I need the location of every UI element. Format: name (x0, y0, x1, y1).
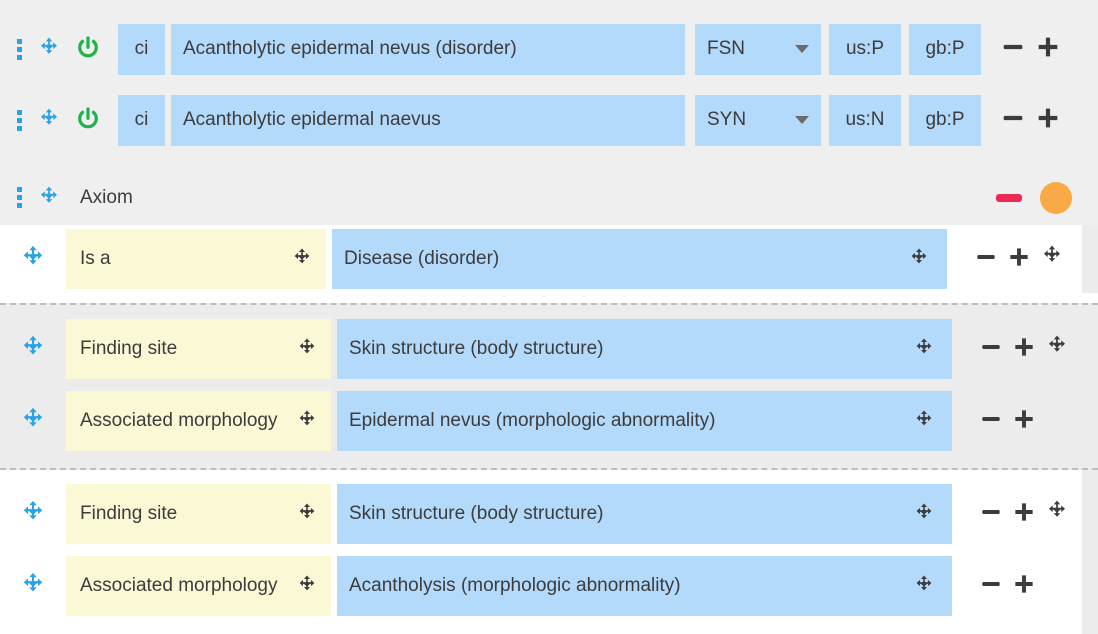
description-power-icon[interactable] (66, 105, 110, 135)
relationship-type-label: Finding site (80, 501, 295, 527)
relationship-value-box[interactable]: Epidermal nevus (morphologic abnormality… (337, 391, 952, 451)
relationship-move-icon[interactable] (0, 571, 66, 601)
add-relationship-icon[interactable] (1011, 571, 1037, 602)
relationship-row-controls (978, 499, 1070, 530)
relationship-move-icon[interactable] (0, 406, 66, 436)
description-menu-icon[interactable] (6, 39, 32, 60)
relationship-type-box[interactable]: Associated morphology (66, 556, 331, 616)
relationship-row-controls (973, 244, 1065, 275)
add-description-icon[interactable] (1034, 104, 1062, 137)
relationship-row: Finding site Skin structure (body struct… (0, 478, 1098, 550)
relationship-row: Associated morphology Acantholysis (morp… (0, 550, 1098, 622)
description-menu-icon[interactable] (6, 110, 32, 131)
gb-acceptability-box[interactable]: gb:P (909, 24, 981, 75)
add-relationship-icon[interactable] (1011, 499, 1037, 530)
us-acceptability-box[interactable]: us:N (829, 95, 901, 146)
gb-acceptability-box[interactable]: gb:P (909, 95, 981, 146)
description-move-icon[interactable] (32, 107, 66, 133)
relationship-type-move-icon[interactable] (295, 409, 319, 433)
descriptions-panel: ci Acantholytic epidermal nevus (disorde… (0, 0, 1098, 225)
relationship-row-controls (978, 406, 1037, 437)
description-term-field[interactable]: Acantholytic epidermal nevus (disorder) (171, 24, 685, 75)
remove-description-icon[interactable] (999, 104, 1027, 137)
description-type-value: SYN (707, 109, 746, 131)
relationship-type-move-icon[interactable] (290, 247, 314, 271)
relationship-row-controls (978, 334, 1070, 365)
relationship-value-move-icon[interactable] (912, 502, 936, 526)
relationship-value-box[interactable]: Skin structure (body structure) (337, 484, 952, 544)
relationship-type-move-icon[interactable] (295, 337, 319, 361)
remove-description-icon[interactable] (999, 33, 1027, 66)
relationship-value-label: Acantholysis (morphologic abnormality) (349, 575, 912, 597)
us-acceptability-box[interactable]: us:P (829, 24, 901, 75)
relationship-row: Is a Disease (disorder) (0, 225, 1098, 293)
us-acceptability-label: us:P (846, 38, 884, 60)
description-type-select[interactable]: SYN (695, 95, 821, 146)
relationship-move-icon[interactable] (0, 334, 66, 364)
relationship-value-label: Skin structure (body structure) (349, 338, 912, 360)
relationship-type-box[interactable]: Finding site (66, 319, 331, 379)
relationship-type-label: Associated morphology (80, 408, 295, 434)
axiom-header: Axiom (0, 170, 1098, 225)
relationship-value-box[interactable]: Skin structure (body structure) (337, 319, 952, 379)
relationship-value-label: Skin structure (body structure) (349, 503, 912, 525)
add-relationship-icon[interactable] (1011, 406, 1037, 437)
chevron-down-icon (795, 45, 809, 53)
case-significance-box[interactable]: ci (118, 24, 165, 75)
description-term-text: Acantholytic epidermal naevus (183, 109, 441, 131)
add-relationship-icon[interactable] (1006, 244, 1032, 275)
relationship-type-label: Is a (80, 246, 290, 272)
description-row-controls (999, 104, 1062, 137)
move-group-icon[interactable] (1039, 244, 1065, 275)
move-group-icon[interactable] (1044, 499, 1070, 530)
case-significance-box[interactable]: ci (118, 95, 165, 146)
relationship-group: Finding site Skin structure (body struct… (0, 303, 1098, 470)
description-term-field[interactable]: Acantholytic epidermal naevus (171, 95, 685, 146)
move-group-icon[interactable] (1044, 334, 1070, 365)
axiom-move-icon[interactable] (32, 185, 66, 211)
relationship-group: Is a Disease (disorder) (0, 225, 1098, 293)
remove-relationship-icon[interactable] (978, 334, 1004, 365)
axiom-controls (996, 182, 1098, 214)
remove-relationship-icon[interactable] (978, 406, 1004, 437)
relationship-type-box[interactable]: Is a (66, 229, 326, 289)
relationship-group: Finding site Skin structure (body struct… (0, 470, 1098, 634)
us-acceptability-label: us:N (845, 109, 884, 131)
remove-relationship-icon[interactable] (978, 571, 1004, 602)
description-type-select[interactable]: FSN (695, 24, 821, 75)
relationship-value-label: Disease (disorder) (344, 248, 907, 270)
add-relationship-icon[interactable] (1011, 334, 1037, 365)
relationship-type-label: Associated morphology (80, 573, 295, 599)
case-significance-label: ci (135, 109, 149, 131)
description-row: ci Acantholytic epidermal nevus (disorde… (0, 17, 1098, 81)
remove-relationship-icon[interactable] (973, 244, 999, 275)
relationship-row: Associated morphology Epidermal nevus (m… (0, 385, 1098, 457)
remove-axiom-icon[interactable] (996, 194, 1022, 202)
chevron-down-icon (795, 116, 809, 124)
relationship-type-label: Finding site (80, 336, 295, 362)
relationship-move-icon[interactable] (0, 244, 66, 274)
relationship-value-box[interactable]: Disease (disorder) (332, 229, 947, 289)
relationship-value-move-icon[interactable] (912, 574, 936, 598)
description-row-controls (999, 33, 1062, 66)
description-type-value: FSN (707, 38, 745, 60)
axiom-status-badge[interactable] (1040, 182, 1072, 214)
relationship-move-icon[interactable] (0, 499, 66, 529)
relationship-value-box[interactable]: Acantholysis (morphologic abnormality) (337, 556, 952, 616)
add-description-icon[interactable] (1034, 33, 1062, 66)
axiom-label: Axiom (80, 187, 133, 209)
relationship-value-label: Epidermal nevus (morphologic abnormality… (349, 410, 912, 432)
concept-editor: ci Acantholytic epidermal nevus (disorde… (0, 0, 1098, 634)
relationship-row: Finding site Skin structure (body struct… (0, 313, 1098, 385)
remove-relationship-icon[interactable] (978, 499, 1004, 530)
gb-acceptability-label: gb:P (925, 38, 964, 60)
relationship-type-box[interactable]: Associated morphology (66, 391, 331, 451)
relationship-type-move-icon[interactable] (295, 502, 319, 526)
relationship-value-move-icon[interactable] (912, 337, 936, 361)
relationship-type-box[interactable]: Finding site (66, 484, 331, 544)
description-move-icon[interactable] (32, 36, 66, 62)
axiom-menu-icon[interactable] (6, 187, 32, 208)
relationship-type-move-icon[interactable] (295, 574, 319, 598)
relationship-value-move-icon[interactable] (912, 409, 936, 433)
relationship-value-move-icon[interactable] (907, 247, 931, 271)
description-row: ci Acantholytic epidermal naevus SYN us:… (0, 88, 1098, 152)
case-significance-label: ci (135, 38, 149, 60)
relationship-row-controls (978, 571, 1037, 602)
description-power-icon[interactable] (66, 34, 110, 64)
gb-acceptability-label: gb:P (925, 109, 964, 131)
description-term-text: Acantholytic epidermal nevus (disorder) (183, 38, 517, 60)
